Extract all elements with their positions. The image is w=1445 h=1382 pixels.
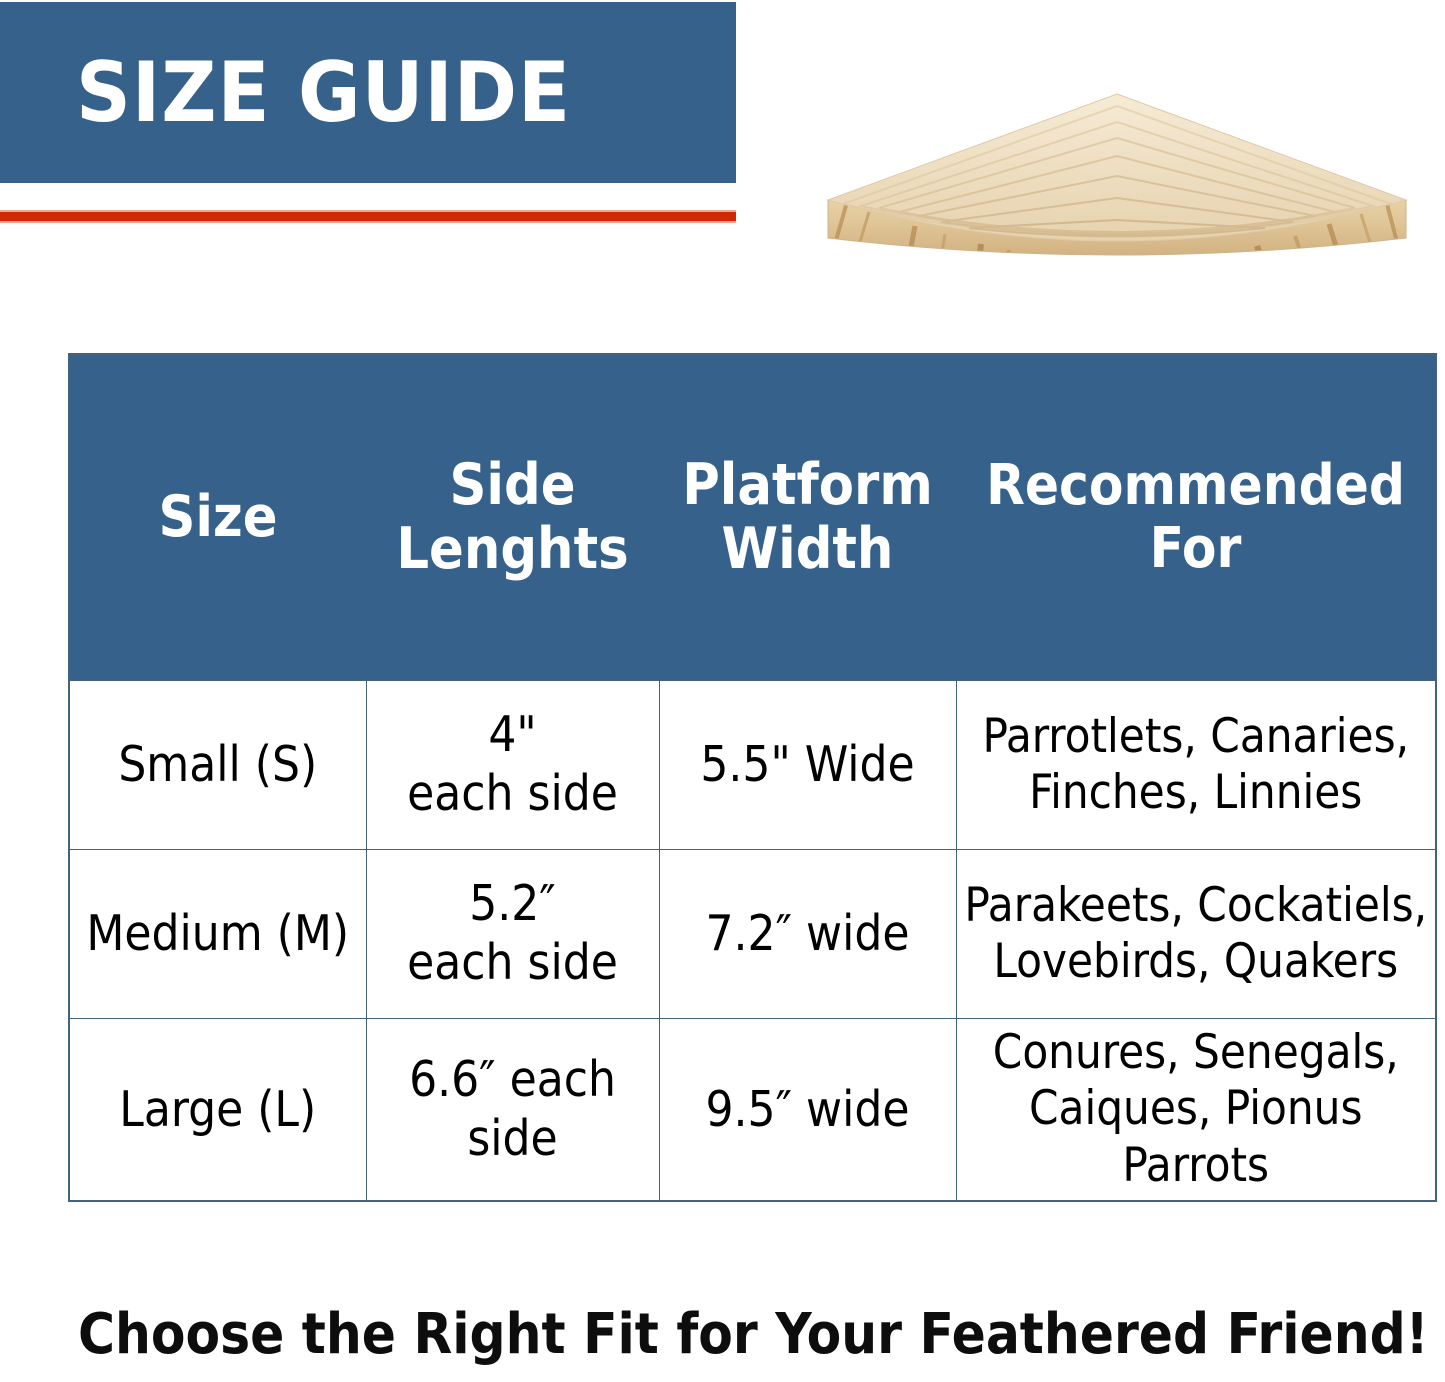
cell-recommended-medium: Parakeets, Cockatiels, Lovebirds, Quaker…: [956, 850, 1436, 1019]
column-header-size: Size: [69, 354, 366, 681]
cell-side-small-line1: 4": [373, 706, 653, 765]
table-header: Size Side Lenghts Platform Width Recomme…: [69, 354, 1436, 681]
table-row: Medium (M) 5.2″ each side 7.2″ wide Para…: [69, 850, 1436, 1019]
cell-side-large-line2: side: [373, 1110, 653, 1169]
cell-recommended-large-line2: Caiques, Pionus Parrots: [963, 1081, 1430, 1194]
column-header-recommended-line1: Recommended: [960, 455, 1431, 518]
table-header-row: Size Side Lenghts Platform Width Recomme…: [69, 354, 1436, 681]
cell-side-small-line2: each side: [373, 765, 653, 824]
cell-side-large-line1: 6.6″ each: [373, 1051, 653, 1110]
corner-shelf-product-image: [795, 72, 1440, 287]
cell-platform-large: 9.5″ wide: [659, 1019, 956, 1202]
cell-side-medium-line2: each side: [373, 934, 653, 993]
column-header-platform-line2: Width: [667, 518, 948, 582]
table-body: Small (S) 4" each side 5.5" Wide Parrotl…: [69, 681, 1436, 1202]
size-guide-table: Size Side Lenghts Platform Width Recomme…: [68, 353, 1437, 1202]
cell-recommended-small-line2: Finches, Linnies: [963, 765, 1430, 821]
page-title: SIZE GUIDE: [76, 51, 571, 134]
cell-side-small: 4" each side: [366, 681, 659, 850]
column-header-recommended-line2: For: [960, 518, 1431, 581]
column-header-side-lengths: Side Lenghts: [366, 354, 659, 681]
table-row: Small (S) 4" each side 5.5" Wide Parrotl…: [69, 681, 1436, 850]
cell-side-medium-line1: 5.2″: [373, 875, 653, 934]
cell-size-small: Small (S): [69, 681, 366, 850]
column-header-size-line1: Size: [78, 486, 358, 550]
column-header-side-line2: Lenghts: [374, 518, 651, 582]
table-row: Large (L) 6.6″ each side 9.5″ wide Conur…: [69, 1019, 1436, 1202]
footer-tagline: Choose the Right Fit for Your Feathered …: [78, 1306, 1418, 1365]
column-header-platform-line1: Platform: [667, 454, 948, 518]
header-banner: SIZE GUIDE: [0, 2, 736, 183]
cell-size-large: Large (L): [69, 1019, 366, 1202]
column-header-side-line1: Side: [374, 454, 651, 518]
header-accent-rule: [0, 210, 736, 223]
column-header-recommended-for: Recommended For: [956, 354, 1436, 681]
column-header-platform-width: Platform Width: [659, 354, 956, 681]
cell-recommended-small: Parrotlets, Canaries, Finches, Linnies: [956, 681, 1436, 850]
cell-recommended-large: Conures, Senegals, Caiques, Pionus Parro…: [956, 1019, 1436, 1202]
cell-platform-small: 5.5" Wide: [659, 681, 956, 850]
cell-recommended-small-line1: Parrotlets, Canaries,: [963, 709, 1430, 765]
cell-size-medium: Medium (M): [69, 850, 366, 1019]
cell-recommended-medium-line2: Lovebirds, Quakers: [963, 934, 1430, 990]
cell-side-medium: 5.2″ each side: [366, 850, 659, 1019]
cell-recommended-large-line1: Conures, Senegals,: [963, 1025, 1430, 1081]
cell-platform-medium: 7.2″ wide: [659, 850, 956, 1019]
cell-side-large: 6.6″ each side: [366, 1019, 659, 1202]
cell-recommended-medium-line1: Parakeets, Cockatiels,: [963, 878, 1430, 934]
